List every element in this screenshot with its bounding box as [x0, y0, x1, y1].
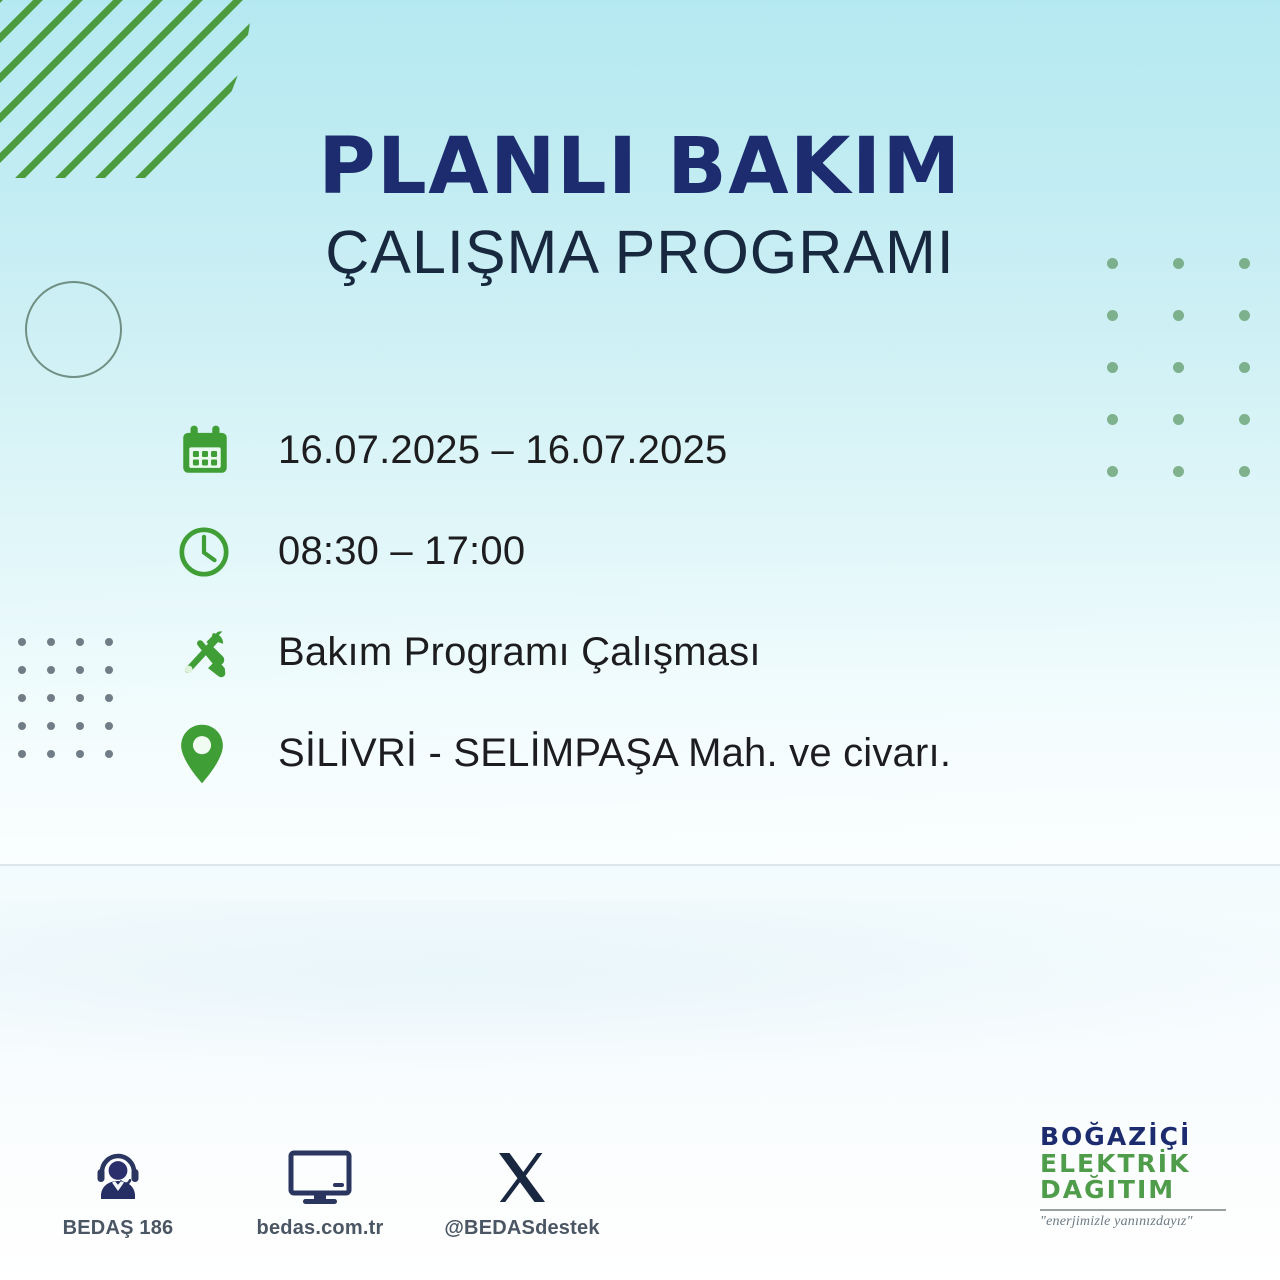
dot-grid-left-decoration — [18, 638, 134, 778]
dot — [47, 666, 55, 674]
contact-phone[interactable]: BEDAŞ 186 — [48, 1144, 188, 1240]
dot — [18, 722, 26, 730]
info-list: 16.07.2025 – 16.07.2025 08:30 – 17:00 — [176, 400, 1116, 804]
dot — [1239, 362, 1250, 373]
info-row-date: 16.07.2025 – 16.07.2025 — [176, 400, 1116, 501]
contact-x-label: @BEDASdestek — [444, 1217, 599, 1240]
page-title: PLANLI BAKIM — [0, 128, 1280, 206]
footer-contacts: BEDAŞ 186 bedas.com.tr @BEDASdestek — [48, 1144, 592, 1240]
dot — [1173, 362, 1184, 373]
info-row-date-text: 16.07.2025 – 16.07.2025 — [278, 428, 727, 473]
monitor-icon — [287, 1144, 353, 1206]
brand-line-elektrik: ELEKTRİK — [1040, 1151, 1236, 1178]
page-title-block: PLANLI BAKIM ÇALIŞMA PROGRAMI — [0, 128, 1280, 283]
info-row-worktype-text: Bakım Programı Çalışması — [278, 630, 761, 675]
dot — [47, 694, 55, 702]
dot — [105, 638, 113, 646]
dot — [76, 694, 84, 702]
tools-icon — [176, 618, 238, 688]
contact-phone-label: BEDAŞ 186 — [63, 1217, 174, 1240]
circle-outline-decoration — [25, 281, 122, 378]
contact-website-label: bedas.com.tr — [257, 1217, 384, 1240]
dot — [1239, 414, 1250, 425]
info-row-location: SİLİVRİ - SELİMPAŞA Mah. ve civarı. — [176, 703, 1116, 804]
info-row-location-text: SİLİVRİ - SELİMPAŞA Mah. ve civarı. — [278, 731, 951, 776]
dot — [76, 666, 84, 674]
info-row-time-text: 08:30 – 17:00 — [278, 529, 525, 574]
dot — [1173, 310, 1184, 321]
contact-website[interactable]: bedas.com.tr — [250, 1144, 390, 1240]
dot — [105, 722, 113, 730]
dot — [76, 722, 84, 730]
dot — [18, 694, 26, 702]
brand-line-bogazici: BOĞAZİÇİ — [1040, 1124, 1236, 1151]
clock-icon — [176, 517, 238, 587]
lower-background-wash — [0, 900, 1280, 1080]
location-pin-icon — [176, 719, 238, 789]
dot — [105, 694, 113, 702]
contact-x-social[interactable]: @BEDASdestek — [452, 1144, 592, 1240]
info-row-worktype: Bakım Programı Çalışması — [176, 602, 1116, 703]
dot — [1107, 310, 1118, 321]
dot-grid-right-decoration — [1107, 258, 1280, 518]
dot — [76, 638, 84, 646]
brand-line-dagitim: DAĞITIM — [1040, 1177, 1236, 1204]
support-agent-icon — [88, 1144, 148, 1206]
brand-logo: BOĞAZİÇİ ELEKTRİK DAĞITIM "enerjimizle y… — [1040, 1124, 1236, 1230]
dot — [1107, 362, 1118, 373]
dot — [47, 722, 55, 730]
x-social-icon — [493, 1144, 551, 1206]
info-row-time: 08:30 – 17:00 — [176, 501, 1116, 602]
dot — [47, 638, 55, 646]
dot — [18, 638, 26, 646]
panel-seam-divider — [0, 864, 1280, 866]
calendar-icon — [176, 416, 238, 486]
page-subtitle: ÇALIŞMA PROGRAMI — [0, 222, 1280, 283]
brand-divider — [1040, 1209, 1226, 1211]
dot — [1239, 466, 1250, 477]
poster-canvas: PLANLI BAKIM ÇALIŞMA PROGRAMI — [0, 0, 1280, 1280]
dot — [18, 750, 26, 758]
dot — [1239, 310, 1250, 321]
brand-tagline: "enerjimizle yanınızdayız" — [1040, 1214, 1236, 1230]
dot — [105, 750, 113, 758]
dot — [76, 750, 84, 758]
dot — [105, 666, 113, 674]
dot — [47, 750, 55, 758]
dot — [1173, 466, 1184, 477]
dot — [18, 666, 26, 674]
dot — [1173, 414, 1184, 425]
